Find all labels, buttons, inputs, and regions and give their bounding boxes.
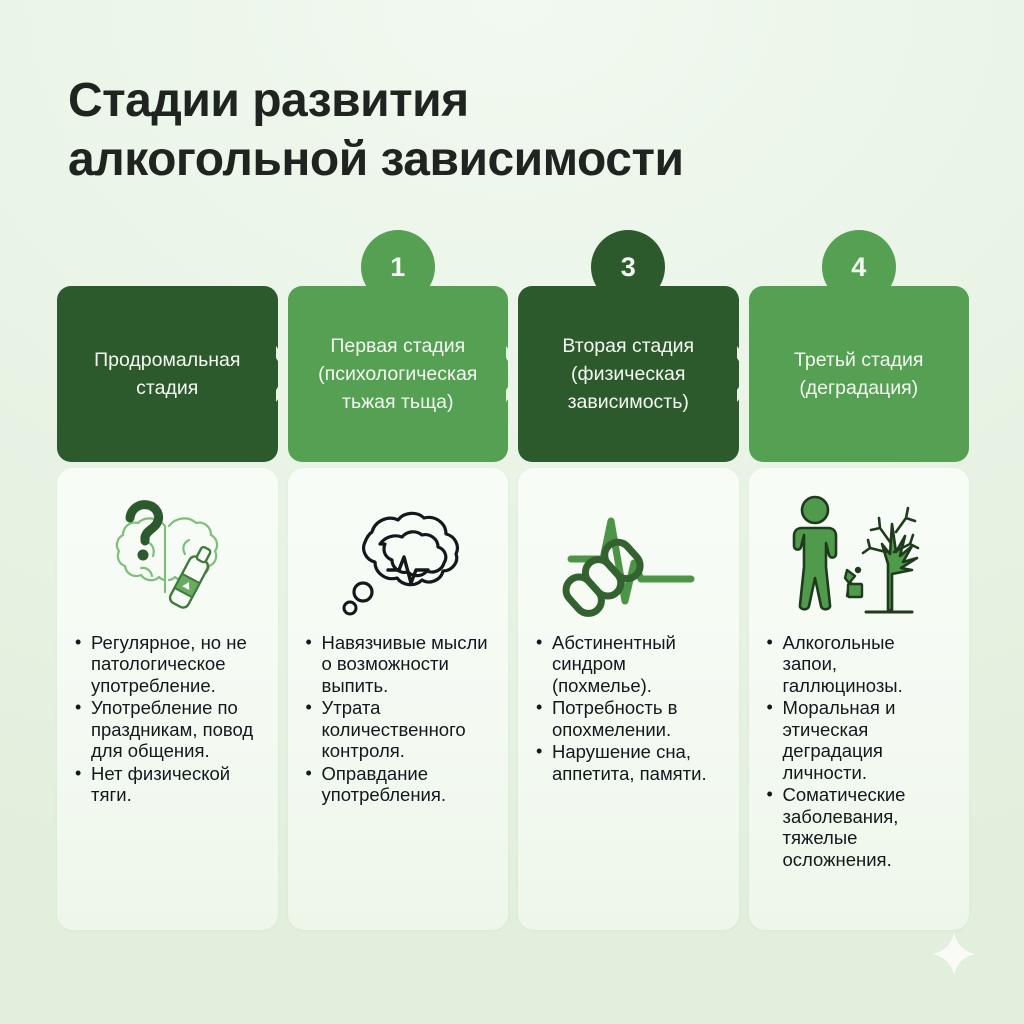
- list-item: Нарушение сна, аппетита, памяти.: [536, 741, 723, 784]
- stage-body-2: Навязчивые мысли о возможности выпить. У…: [288, 468, 509, 930]
- stages-board: Продромальная стадия: [57, 230, 969, 930]
- list-item: Алкогольные запои, галлюцинозы.: [767, 632, 954, 696]
- stage-bullets-4: Алкогольные запои, галлюцинозы. Моральна…: [749, 632, 970, 871]
- thought-bubble-heartbeat-icon: [288, 482, 509, 632]
- stage-header-label-2: Первая стадия (психологическая тьжая тьщ…: [318, 332, 477, 417]
- stage-bullets-3: Абстинентный синдром (похмелье). Потребн…: [518, 632, 739, 785]
- list-item: Навязчивые мысли о возможности выпить.: [306, 632, 493, 696]
- stage-header-1[interactable]: Продромальная стадия: [57, 286, 278, 462]
- list-item: Регулярное, но не патологическое употреб…: [75, 632, 262, 696]
- stage-body-1: Регулярное, но не патологическое употреб…: [57, 468, 278, 930]
- list-item: Потребность в опохмелении.: [536, 697, 723, 740]
- stage-header-3[interactable]: Вторая стадия (физическая зависимость): [518, 286, 739, 462]
- brain-question-bottle-icon: [57, 482, 278, 632]
- stage-body-4: Алкогольные запои, галлюцинозы. Моральна…: [749, 468, 970, 930]
- stage-header-label-1: Продромальная стадия: [94, 346, 240, 403]
- stage-badge-label-4: 4: [851, 254, 866, 281]
- stage-column-4[interactable]: 4 Третьй стадия (деградация): [749, 230, 970, 930]
- stage-badge-2: 1: [361, 230, 435, 304]
- stage-header-4[interactable]: Третьй стадия (деградация): [749, 286, 970, 462]
- stage-column-2[interactable]: 1 Первая стадия (психологическая тьжая т…: [288, 230, 509, 930]
- stage-header-2[interactable]: Первая стадия (психологическая тьжая тьщ…: [288, 286, 509, 462]
- list-item: Моральная и этическая деградация личност…: [767, 697, 954, 783]
- stage-bullets-2: Навязчивые мысли о возможности выпить. У…: [288, 632, 509, 807]
- person-dead-tree-icon: [749, 482, 970, 632]
- list-item: Абстинентный синдром (похмелье).: [536, 632, 723, 696]
- list-item: Оправдание употребления.: [306, 763, 493, 806]
- sparkle-icon: [932, 932, 976, 976]
- stage-bullets-1: Регулярное, но не патологическое употреб…: [57, 632, 278, 807]
- stage-badge-3: 3: [591, 230, 665, 304]
- list-item: Употребление по праздникам, повод для об…: [75, 697, 262, 761]
- list-item: Утрата количественного контроля.: [306, 697, 493, 761]
- stage-header-label-3: Вторая стадия (физическая зависимость): [562, 332, 694, 417]
- stage-badge-label-3: 3: [621, 254, 636, 281]
- stage-column-3[interactable]: 3 Вторая стадия (физическая зависимость): [518, 230, 739, 930]
- page-title: Стадии развития алкогольной зависимости: [68, 72, 908, 189]
- stage-column-1[interactable]: Продромальная стадия: [57, 230, 278, 930]
- stage-body-3: Абстинентный синдром (похмелье). Потребн…: [518, 468, 739, 930]
- stage-badge-4: 4: [822, 230, 896, 304]
- chain-heartbeat-icon: [518, 482, 739, 632]
- stage-badge-label-2: 1: [390, 254, 405, 281]
- list-item: Нет физической тяги.: [75, 763, 262, 806]
- stage-header-label-4: Третьй стадия (деградация): [794, 346, 923, 403]
- list-item: Соматические заболевания, тяжелые осложн…: [767, 784, 954, 870]
